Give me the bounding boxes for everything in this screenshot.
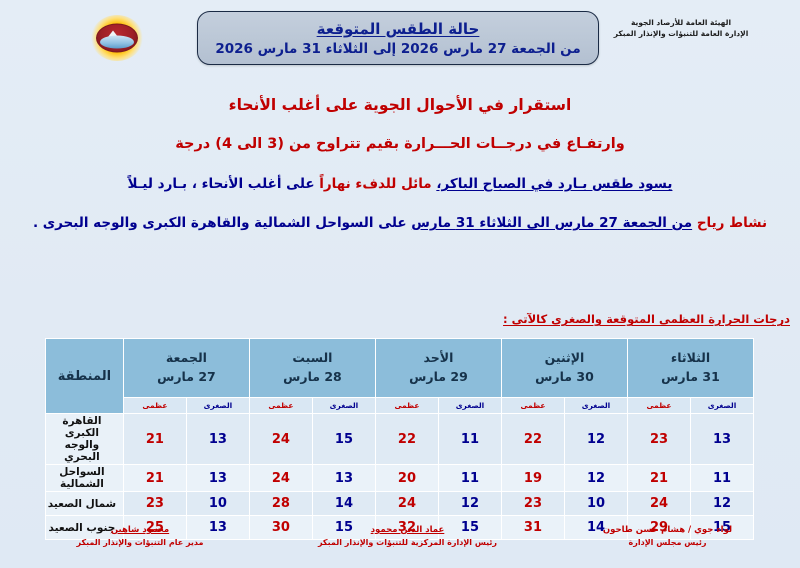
sub-min-0: الصغرى bbox=[186, 398, 249, 414]
day-date-4: 31 مارس bbox=[628, 368, 753, 387]
cell-max-r0-d2: 22 bbox=[375, 414, 438, 465]
statement-line-4: نشاط رياح من الجمعة 27 مارس الى الثلاثاء… bbox=[0, 215, 800, 231]
cell-max-r1-d1: 24 bbox=[249, 465, 312, 492]
cell-max-r0-d0: 21 bbox=[123, 414, 186, 465]
document-header: الهيئة العامة للأرصاد الجوية الإدارة الع… bbox=[0, 0, 800, 78]
cell-max-r1-d3: 19 bbox=[501, 465, 564, 492]
cell-max-r2-d1: 28 bbox=[249, 492, 312, 516]
statement-line-3-part-b: مائل للدفء نهاراً bbox=[319, 176, 431, 192]
weather-forecast-page: الهيئة العامة للأرصاد الجوية الإدارة الع… bbox=[0, 0, 800, 568]
day-name-3: الإثنين bbox=[502, 349, 627, 368]
date-range: من الجمعة 27 مارس 2026 إلى الثلاثاء 31 م… bbox=[215, 41, 580, 57]
day-header-1: السبت 28 مارس bbox=[249, 339, 375, 398]
cell-max-r0-d3: 22 bbox=[501, 414, 564, 465]
cell-min-r2-d4: 12 bbox=[691, 492, 754, 516]
cell-min-r1-d0: 13 bbox=[186, 465, 249, 492]
signature-right-name: محمود شاهين bbox=[25, 524, 255, 537]
table-header-row-minmax: الصغرى عظمى الصغرى عظمى الصغرى عظمى الصغ… bbox=[45, 398, 753, 414]
table-row: 11 21 12 19 11 20 13 24 13 21 السواحل ال… bbox=[45, 465, 753, 492]
statement-line-2: وارتفـاع في درجــات الحـــرارة بقيم تترا… bbox=[0, 136, 800, 152]
signature-left-name: لواء جوي / هشام حسن طاحون bbox=[555, 524, 780, 537]
cell-max-r1-d0: 21 bbox=[123, 465, 186, 492]
cell-min-r0-d0: 13 bbox=[186, 414, 249, 465]
signature-right: محمود شاهين مدير عام التنبؤات والإنذار ا… bbox=[25, 524, 255, 549]
temperature-table-wrapper: الثلاثاء 31 مارس الإثنين 30 مارس الأحد 2… bbox=[46, 338, 754, 540]
day-name-2: الأحد bbox=[376, 349, 501, 368]
region-header: المنطقة bbox=[45, 339, 123, 414]
title-box: حالة الطقس المتوقعة من الجمعة 27 مارس 20… bbox=[197, 11, 599, 65]
egypt-meteorological-authority-logo-icon bbox=[86, 14, 148, 62]
cell-min-r0-d4: 13 bbox=[691, 414, 754, 465]
region-label-0: القاهرة الكبرى والوجه البحري bbox=[45, 414, 123, 465]
table-caption: درجات الحرارة العظمى المتوقعة والصغرى كا… bbox=[503, 312, 790, 326]
statement-line-3-part-a: يسود طقس بـارد في الصباح الباكر، bbox=[436, 176, 672, 192]
table-header-row-days: الثلاثاء 31 مارس الإثنين 30 مارس الأحد 2… bbox=[45, 339, 753, 398]
cell-max-r1-d2: 20 bbox=[375, 465, 438, 492]
cell-min-r1-d1: 13 bbox=[312, 465, 375, 492]
day-header-2: الأحد 29 مارس bbox=[375, 339, 501, 398]
day-date-1: 28 مارس bbox=[250, 368, 375, 387]
signature-middle-role: رئيس الإدارة المركزية للتنبؤات والإنذار … bbox=[280, 537, 535, 549]
organization-name: الهيئة العامة للأرصاد الجوية الإدارة الع… bbox=[576, 18, 786, 40]
cell-max-r1-d4: 21 bbox=[627, 465, 690, 492]
signature-left: لواء جوي / هشام حسن طاحون رئيس مجلس الإد… bbox=[555, 524, 780, 549]
cell-max-r2-d4: 24 bbox=[627, 492, 690, 516]
cell-min-r2-d1: 14 bbox=[312, 492, 375, 516]
day-name-4: الثلاثاء bbox=[628, 349, 753, 368]
statement-line-4-part-a: نشاط رياح bbox=[697, 215, 767, 231]
cell-min-r2-d0: 10 bbox=[186, 492, 249, 516]
signature-right-role: مدير عام التنبؤات والإنذار المبكر bbox=[25, 537, 255, 549]
sub-max-0: عظمى bbox=[123, 398, 186, 414]
sub-max-3: عظمى bbox=[501, 398, 564, 414]
table-row: 12 24 10 23 12 24 14 28 10 23 شمال الصعي… bbox=[45, 492, 753, 516]
day-name-1: السبت bbox=[250, 349, 375, 368]
forecast-statements: استقرار في الأحوال الجوية على أغلب الأنح… bbox=[0, 96, 800, 231]
organization-line-2: الإدارة العامة للتنبؤات والإنذار المبكر bbox=[576, 29, 786, 40]
cell-min-r1-d3: 12 bbox=[564, 465, 627, 492]
day-name-0: الجمعة bbox=[124, 349, 249, 368]
signature-left-role: رئيس مجلس الإدارة bbox=[555, 537, 780, 549]
statement-line-3-part-c: على أغلب الأنحاء ، بـارد ليـلاً bbox=[128, 176, 315, 192]
statement-line-4-part-b: من الجمعة 27 مارس الى الثلاثاء 31 مارس bbox=[411, 215, 692, 231]
temperature-table: الثلاثاء 31 مارس الإثنين 30 مارس الأحد 2… bbox=[45, 338, 754, 540]
document-footer: محمود شاهين مدير عام التنبؤات والإنذار ا… bbox=[0, 520, 800, 560]
cell-max-r2-d0: 23 bbox=[123, 492, 186, 516]
day-header-0: الجمعة 27 مارس bbox=[123, 339, 249, 398]
sub-max-2: عظمى bbox=[375, 398, 438, 414]
cell-max-r0-d1: 24 bbox=[249, 414, 312, 465]
cell-max-r2-d3: 23 bbox=[501, 492, 564, 516]
region-label-2: شمال الصعيد bbox=[45, 492, 123, 516]
cell-min-r0-d2: 11 bbox=[438, 414, 501, 465]
sub-min-1: الصغرى bbox=[312, 398, 375, 414]
cell-min-r0-d3: 12 bbox=[564, 414, 627, 465]
sub-min-4: الصغرى bbox=[691, 398, 754, 414]
day-header-4: الثلاثاء 31 مارس bbox=[627, 339, 753, 398]
statement-line-4-part-c: على السواحل الشمالية والقاهرة الكبرى وال… bbox=[33, 215, 407, 231]
statement-line-3: يسود طقس بـارد في الصباح الباكر، مائل لل… bbox=[0, 176, 800, 192]
cell-min-r2-d3: 10 bbox=[564, 492, 627, 516]
sub-max-1: عظمى bbox=[249, 398, 312, 414]
page-title: حالة الطقس المتوقعة bbox=[317, 20, 480, 38]
statement-line-1: استقرار في الأحوال الجوية على أغلب الأنح… bbox=[0, 96, 800, 114]
table-head: الثلاثاء 31 مارس الإثنين 30 مارس الأحد 2… bbox=[45, 339, 753, 414]
region-label-1: السواحل الشمالية bbox=[45, 465, 123, 492]
cell-max-r0-d4: 23 bbox=[627, 414, 690, 465]
sub-max-4: عظمى bbox=[627, 398, 690, 414]
logo-emblem-shape bbox=[96, 24, 138, 53]
cell-min-r1-d2: 11 bbox=[438, 465, 501, 492]
day-date-0: 27 مارس bbox=[124, 368, 249, 387]
cell-max-r2-d2: 24 bbox=[375, 492, 438, 516]
cell-min-r2-d2: 12 bbox=[438, 492, 501, 516]
day-date-2: 29 مارس bbox=[376, 368, 501, 387]
cell-min-r0-d1: 15 bbox=[312, 414, 375, 465]
day-header-3: الإثنين 30 مارس bbox=[501, 339, 627, 398]
table-row: 13 23 12 22 11 22 15 24 13 21 القاهرة ال… bbox=[45, 414, 753, 465]
signature-middle-name: عماد الدين محمود bbox=[280, 524, 535, 537]
organization-line-1: الهيئة العامة للأرصاد الجوية bbox=[576, 18, 786, 29]
sub-min-2: الصغرى bbox=[438, 398, 501, 414]
day-date-3: 30 مارس bbox=[502, 368, 627, 387]
sub-min-3: الصغرى bbox=[564, 398, 627, 414]
signature-middle: عماد الدين محمود رئيس الإدارة المركزية ل… bbox=[280, 524, 535, 549]
cell-min-r1-d4: 11 bbox=[691, 465, 754, 492]
